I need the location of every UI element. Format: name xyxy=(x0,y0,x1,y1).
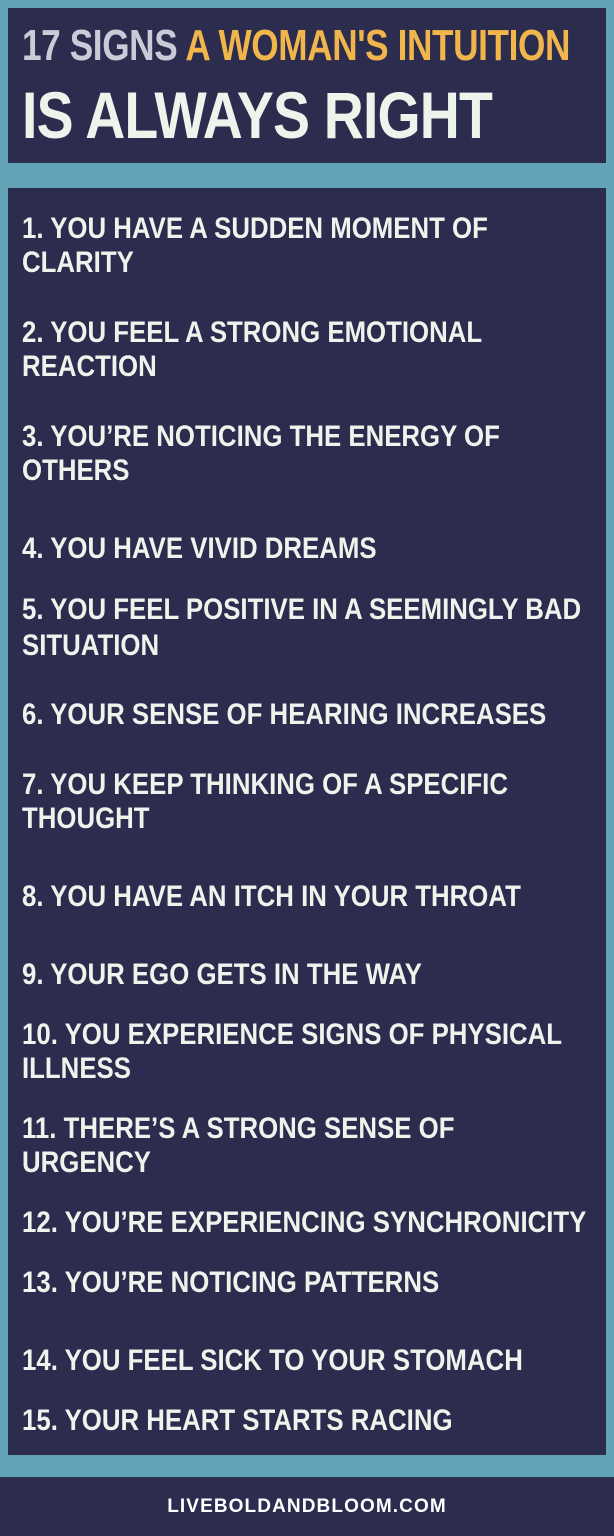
title-count-text: 17 SIGNS xyxy=(22,21,185,70)
list-item: 6. YOUR SENSE OF HEARING INCREASES xyxy=(22,698,589,732)
infographic-poster: 17 SIGNS A WOMAN'S INTUITION IS ALWAYS R… xyxy=(0,0,614,1536)
list-item: 4. YOU HAVE VIVID DREAMS xyxy=(22,532,589,566)
header-banner: 17 SIGNS A WOMAN'S INTUITION IS ALWAYS R… xyxy=(8,8,606,163)
list-item: 9. YOUR EGO GETS IN THE WAY xyxy=(22,958,589,992)
list-item: 8. YOU HAVE AN ITCH IN YOUR THROAT xyxy=(22,880,589,914)
header-separator-band xyxy=(0,163,614,188)
title-line-1: 17 SIGNS A WOMAN'S INTUITION xyxy=(22,18,592,74)
title-line-2: IS ALWAYS RIGHT xyxy=(22,76,597,154)
list-item: 5. YOU FEEL POSITIVE IN A SEEMINGLY BAD … xyxy=(22,592,589,664)
list-panel: 1. YOU HAVE A SUDDEN MOMENT OF CLARITY 2… xyxy=(8,188,606,1455)
list-item: 1. YOU HAVE A SUDDEN MOMENT OF CLARITY xyxy=(22,212,589,280)
list-item: 3. YOU’RE NOTICING THE ENERGY OF OTHERS xyxy=(22,420,589,488)
list-item: 2. YOU FEEL A STRONG EMOTIONAL REACTION xyxy=(22,316,589,384)
list-item: 12. YOU’RE EXPERIENCING SYNCHRONICITY xyxy=(22,1206,589,1240)
footer-bar: LIVEBOLDANDBLOOM.COM xyxy=(0,1477,614,1536)
footer-separator-band xyxy=(0,1455,614,1477)
title-accent-text: A WOMAN'S INTUITION xyxy=(185,21,570,70)
list-item: 14. YOU FEEL SICK TO YOUR STOMACH xyxy=(22,1344,589,1378)
list-item: 15. YOUR HEART STARTS RACING xyxy=(22,1404,589,1438)
list-item: 10. YOU EXPERIENCE SIGNS OF PHYSICAL ILL… xyxy=(22,1018,589,1086)
list-item: 7. YOU KEEP THINKING OF A SPECIFIC THOUG… xyxy=(22,768,589,836)
list-item: 11. THERE’S A STRONG SENSE OF URGENCY xyxy=(22,1112,589,1180)
site-url-text: LIVEBOLDANDBLOOM.COM xyxy=(167,1496,447,1518)
list-item: 13. YOU’RE NOTICING PATTERNS xyxy=(22,1266,589,1300)
signs-list: 1. YOU HAVE A SUDDEN MOMENT OF CLARITY 2… xyxy=(22,212,590,1455)
